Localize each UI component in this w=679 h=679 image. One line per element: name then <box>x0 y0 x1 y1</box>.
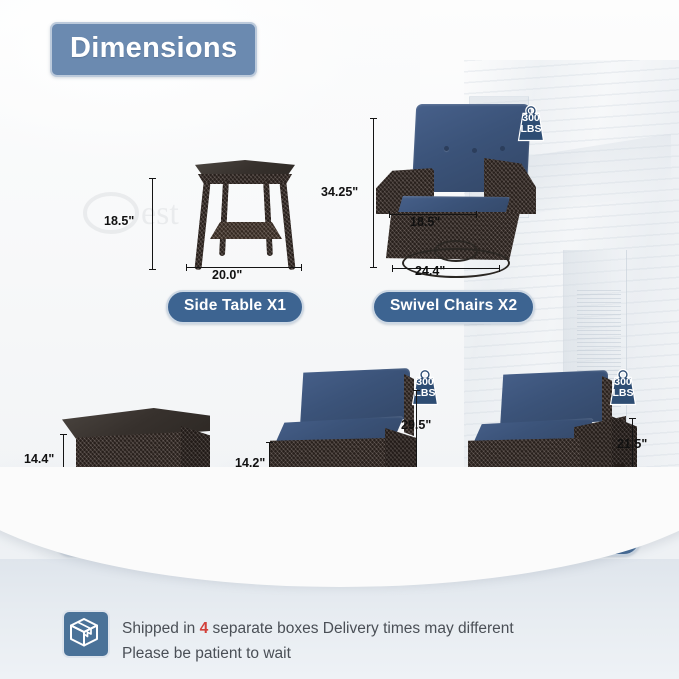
weight-badge-armrests-sofa-value: 300 LBS <box>603 377 643 398</box>
shipping-note: Shipped in 4 separate boxes Delivery tim… <box>122 616 622 666</box>
shipping-note-line1-before: Shipped in <box>122 620 200 637</box>
product-label-side-table-text: Side Table X1 <box>184 297 286 314</box>
armless-sofa-back-height-value: 29.5" <box>401 418 431 432</box>
weight-badge-armless-sofa: 300 LBS <box>405 367 445 407</box>
weight-badge-swivel-chair: 300 LBS <box>511 103 551 143</box>
shipping-note-box-count: 4 <box>200 620 209 637</box>
side-table-icon <box>190 160 300 275</box>
shipping-note-line1-after: separate boxes Delivery times may differ… <box>208 620 514 637</box>
shipping-note-line1: Shipped in 4 separate boxes Delivery tim… <box>122 616 622 641</box>
shipping-note-line2: Please be patient to wait <box>122 641 622 666</box>
product-label-swivel-chairs-text: Swivel Chairs X2 <box>390 297 517 314</box>
infographic-canvas: est Dimensions 18.5" 20.0" Side Table X1 <box>0 0 679 679</box>
side-table-width-value: 20.0" <box>212 268 242 282</box>
swivel-chair-width-value: 24.4" <box>415 264 445 278</box>
weight-badge-armrests-sofa: 300 LBS <box>603 367 643 407</box>
coffee-table-height-value: 14.4" <box>24 452 54 466</box>
swivel-chair-seat-depth-value: 18.5" <box>410 215 440 229</box>
armrests-sofa-arm-height-value: 21.5" <box>617 437 647 451</box>
product-label-side-table[interactable]: Side Table X1 <box>166 290 304 324</box>
swivel-chair-height-value: 34.25" <box>321 185 358 199</box>
weight-badge-swivel-chair-value: 300 LBS <box>511 113 551 134</box>
product-label-swivel-chairs[interactable]: Swivel Chairs X2 <box>372 290 535 324</box>
page-title-text: Dimensions <box>70 32 237 64</box>
weight-badge-armless-sofa-value: 300 LBS <box>405 377 445 398</box>
package-box-icon <box>62 610 110 658</box>
side-table-height-value: 18.5" <box>104 214 134 228</box>
page-title: Dimensions <box>50 22 257 77</box>
svg-text:est: est <box>141 195 179 232</box>
